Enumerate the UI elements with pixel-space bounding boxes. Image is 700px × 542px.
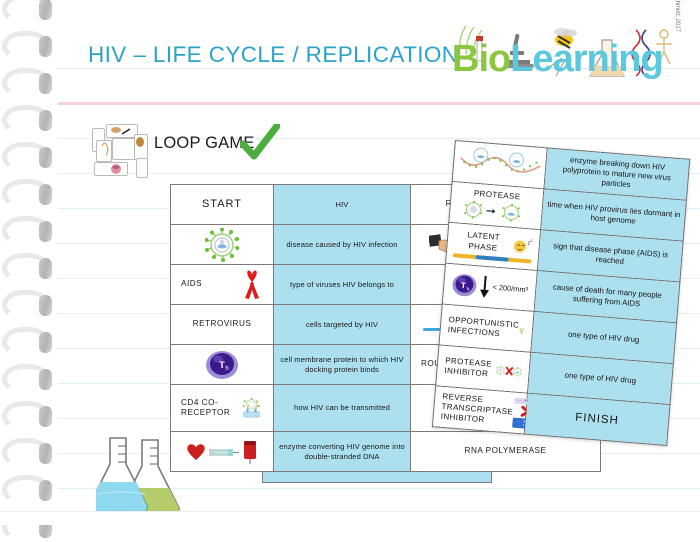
- cell-text: disease caused by HIV infection: [278, 240, 406, 249]
- cell-text: AIDS: [181, 279, 202, 289]
- cell-text: cells targeted by HIV: [278, 320, 406, 329]
- cell-protease[interactable]: PROTEASE: [449, 181, 544, 229]
- cell-text: type of viruses HIV belongs to: [278, 280, 406, 289]
- cell-text: OPPORTUNISTIC INFECTIONS: [447, 315, 519, 341]
- binding-ring: [2, 438, 50, 468]
- loop-game-heading: LOOP GAME: [92, 120, 302, 178]
- hiv-virus-icon: [205, 228, 239, 262]
- cell-reverse-transcriptase-inhibitor[interactable]: REVERSE TRANSCRIPTASE INHIBITOR ...AUGGA…: [432, 386, 527, 434]
- logo-bio-text: Bio: [452, 38, 510, 80]
- cell-text: RNA POLYMERASE: [415, 446, 596, 456]
- cell-budding-virus-image[interactable]: [452, 141, 547, 189]
- th-cell-decline-icon: T h: [451, 272, 479, 298]
- binding-ring: [2, 364, 50, 394]
- budding-virus-icon: [457, 145, 543, 184]
- syringe-icon: [209, 444, 239, 460]
- cell-transmission-image[interactable]: [171, 432, 274, 472]
- notebook-margin-line: [58, 102, 700, 105]
- cell-text: one type of HIV drug: [533, 368, 667, 389]
- cell-opportunistic-infections[interactable]: OPPORTUNISTIC INFECTIONS: [439, 304, 534, 352]
- binding-ring: [2, 142, 50, 172]
- cell-text: CD4 CO-RECEPTOR: [181, 398, 234, 418]
- cell-latent-phase[interactable]: LATENT PHASE z z: [446, 222, 541, 270]
- notebook-page: HIV – LIFE CYCLE / REPLICATION: [0, 0, 700, 525]
- cell-th-count[interactable]: T h < 200/mm³: [442, 263, 537, 311]
- copyright-text: © Anja Schmidt, 2017: [674, 0, 680, 32]
- cell-text: < 200/mm³: [492, 283, 528, 295]
- cell-type-of-viruses[interactable]: type of viruses HIV belongs to: [274, 265, 411, 305]
- cell-start[interactable]: START: [171, 185, 274, 225]
- loop-game-table-overlay: enzyme breaking down HIV polyprotein to …: [432, 140, 690, 446]
- down-arrow-icon: [479, 274, 492, 299]
- cell-text: PROTEASE INHIBITOR: [444, 356, 496, 381]
- green-check-icon: [240, 124, 280, 162]
- cell-text: RETROVIRUS: [175, 319, 269, 329]
- cell-text: cell membrane protein to which HIV docki…: [278, 355, 406, 374]
- svg-text:T: T: [461, 281, 467, 290]
- cell-how-transmitted[interactable]: how HIV can be transmitted: [274, 385, 411, 432]
- binding-ring: [2, 327, 50, 357]
- red-ribbon-icon: [241, 270, 263, 300]
- cell-aids[interactable]: AIDS: [171, 265, 274, 305]
- svg-text:h: h: [225, 366, 228, 372]
- cell-text: HIV: [278, 200, 406, 209]
- cell-disease-caused[interactable]: disease caused by HIV infection: [274, 225, 411, 265]
- cell-protease-inhibitor[interactable]: PROTEASE INHIBITOR: [436, 345, 531, 393]
- spiral-binding-icon: [0, 0, 62, 525]
- cell-cells-targeted[interactable]: cells targeted by HIV: [274, 305, 411, 345]
- blocked-virus-icon: [495, 359, 523, 383]
- biolearning-logo: BioLearning © Anja Schmidt, 2017: [452, 28, 684, 90]
- cell-text: time when HIV provirus lies dormant in h…: [546, 199, 681, 230]
- cell-retrovirus[interactable]: RETROVIRUS: [171, 305, 274, 345]
- cell-text: enzyme breaking down HIV polyprotein to …: [549, 154, 685, 195]
- heart-icon: [186, 443, 206, 461]
- binding-ring: [2, 31, 50, 61]
- th-cell-icon: T h: [205, 350, 239, 380]
- cell-membrane-protein[interactable]: cell membrane protein to which HIV docki…: [274, 345, 411, 385]
- binding-ring: [2, 68, 50, 98]
- table-row: enzyme converting HIV genome into double…: [171, 432, 601, 472]
- cell-text: enzyme converting HIV genome into double…: [278, 442, 406, 461]
- sleeping-face-icon: z z: [512, 236, 533, 254]
- binding-ring: [2, 216, 50, 246]
- cell-text: one type of HIV drug: [536, 327, 670, 348]
- cell-virus-image[interactable]: [171, 225, 274, 265]
- loop-cards-icon: [92, 122, 150, 176]
- cell-text: REVERSE TRANSCRIPTASE INHIBITOR: [440, 392, 514, 428]
- cell-text: FINISH: [530, 406, 665, 432]
- binding-ring: [2, 401, 50, 431]
- binding-ring: [2, 179, 50, 209]
- cell-th-cell-image[interactable]: T h: [171, 345, 274, 385]
- cell-text: sign that disease phase (AIDS) is reache…: [543, 240, 678, 271]
- cd4-receptor-icon: [240, 391, 263, 425]
- binding-ring: [2, 253, 50, 283]
- blood-bag-icon: [242, 439, 258, 465]
- page-bottom-edge: [0, 511, 700, 525]
- binding-ring: [2, 105, 50, 135]
- cell-text: how HIV can be transmitted: [278, 403, 406, 412]
- cell-text: cause of death for many people suffering…: [539, 281, 674, 312]
- svg-text:z: z: [530, 237, 532, 242]
- cell-text: START: [175, 198, 269, 212]
- page-title: HIV – LIFE CYCLE / REPLICATION: [88, 42, 458, 68]
- cell-enzyme-converting[interactable]: enzyme converting HIV genome into double…: [274, 432, 411, 472]
- bacteria-icon: [518, 316, 527, 346]
- cell-cd4-coreceptor[interactable]: CD4 CO-RECEPTOR: [171, 385, 274, 432]
- binding-ring: [2, 0, 50, 24]
- cell-hiv[interactable]: HIV: [274, 185, 411, 225]
- logo-wordmark: BioLearning: [452, 38, 663, 81]
- binding-ring: [2, 475, 50, 505]
- logo-learning-text: Learning: [510, 38, 662, 80]
- binding-ring: [2, 290, 50, 320]
